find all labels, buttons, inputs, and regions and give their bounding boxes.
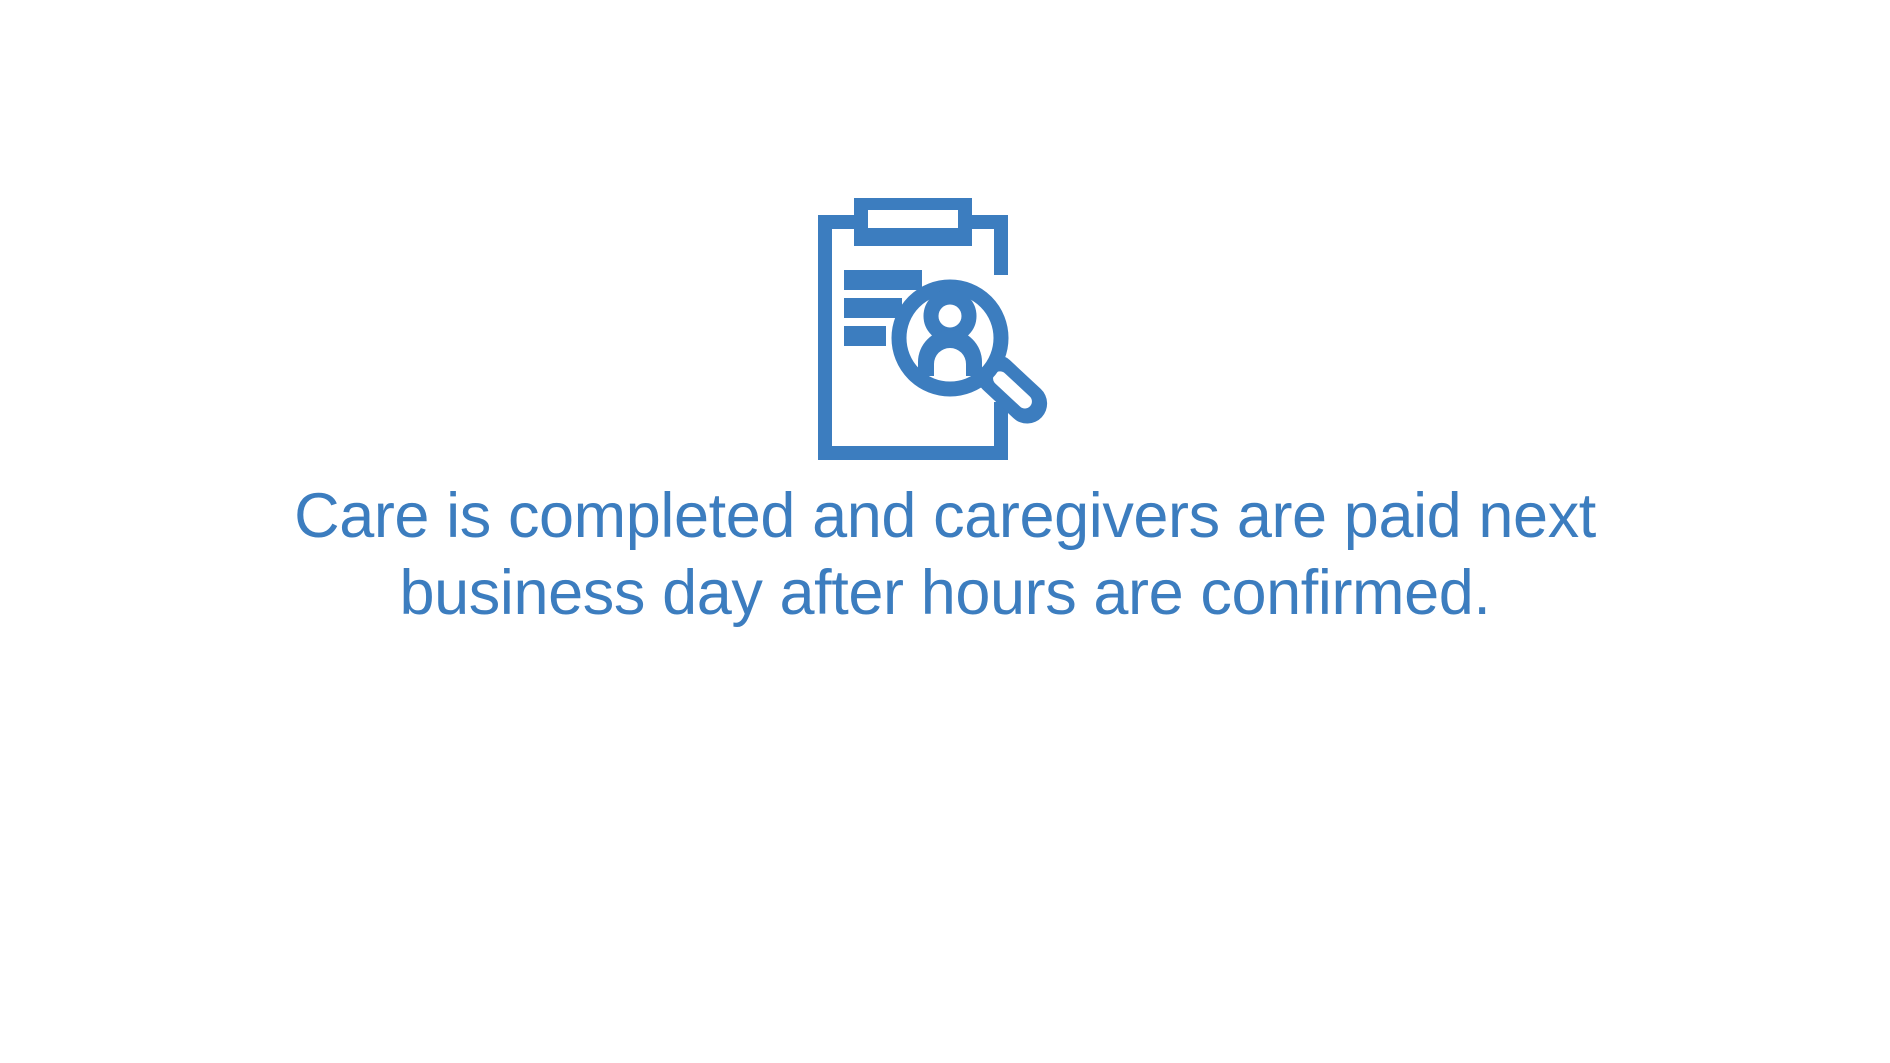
clipboard-person-search-icon (810, 190, 1080, 470)
clipboard-line-3 (844, 326, 886, 346)
clipboard-frame-right-top (994, 215, 1008, 275)
slide-canvas: Care is completed and caregivers are pai… (0, 0, 1890, 1063)
clipboard-line-1 (844, 270, 922, 290)
clipboard-frame-bottom (818, 446, 1008, 460)
clipboard-clip-slot (868, 210, 958, 228)
caption-line-2: business day after hours are confirmed. (0, 555, 1890, 632)
illustration-container (0, 190, 1890, 480)
caption-line-1: Care is completed and caregivers are pai… (0, 478, 1890, 555)
clipboard-line-2 (844, 298, 902, 318)
clipboard-frame-left (818, 215, 832, 460)
caption-text: Care is completed and caregivers are pai… (0, 478, 1890, 632)
